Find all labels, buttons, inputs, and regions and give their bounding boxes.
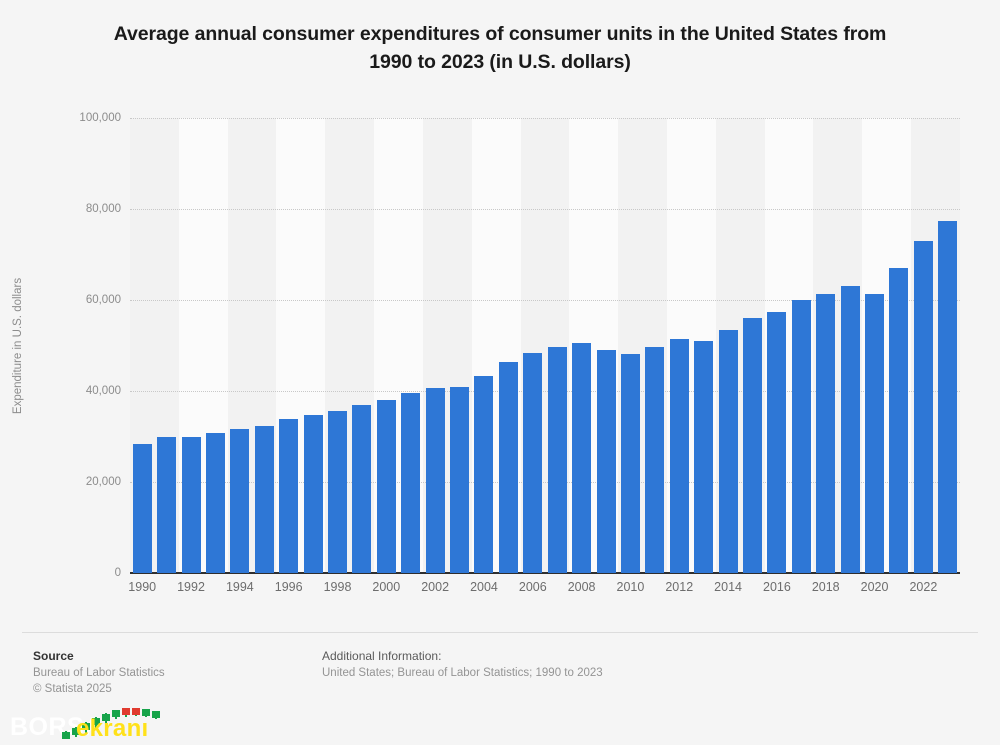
bar-2003[interactable] (450, 387, 469, 573)
bar-2008[interactable] (572, 343, 591, 573)
bar-2009[interactable] (597, 350, 616, 573)
bar-1993[interactable] (206, 433, 225, 573)
bar-2016[interactable] (767, 312, 786, 573)
bar-1994[interactable] (230, 429, 249, 573)
x-axis-tick-label: 2022 (909, 580, 937, 594)
x-axis-tick-label: 2018 (812, 580, 840, 594)
x-axis-tick-label: 2000 (372, 580, 400, 594)
source-heading: Source (33, 648, 165, 665)
y-axis-tick-label: 0 (10, 567, 130, 579)
bar-2017[interactable] (792, 300, 811, 573)
y-axis-tick-label: 60,000 (10, 294, 130, 306)
x-axis-tick-label: 2014 (714, 580, 742, 594)
bar-2011[interactable] (645, 347, 664, 573)
x-axis-tick-label: 2012 (665, 580, 693, 594)
x-axis-tick-label: 2016 (763, 580, 791, 594)
source-column: Source Bureau of Labor Statistics © Stat… (33, 648, 165, 697)
x-axis-tick-label: 1990 (128, 580, 156, 594)
bar-2022[interactable] (914, 241, 933, 573)
chart-title-line-1: Average annual consumer expenditures of … (40, 20, 960, 48)
bar-2013[interactable] (694, 341, 713, 574)
bar-1999[interactable] (352, 405, 371, 573)
x-axis-tick-label: 2002 (421, 580, 449, 594)
bar-2007[interactable] (548, 347, 567, 573)
bar-2004[interactable] (474, 376, 493, 573)
y-axis-tick-label: 100,000 (10, 112, 130, 124)
statistic-chart-page: Average annual consumer expenditures of … (0, 0, 1000, 743)
bar-2014[interactable] (719, 330, 738, 573)
watermark-secondary-text: ekranı (76, 715, 149, 743)
y-axis-ticks: 020,00040,00060,00080,000100,000 (0, 118, 130, 573)
chart-area: Expenditure in U.S. dollars 020,00040,00… (0, 100, 1000, 610)
x-axis-tick-label: 2006 (519, 580, 547, 594)
bar-1992[interactable] (182, 437, 201, 573)
x-axis-tick-label: 1998 (324, 580, 352, 594)
additional-information-text: United States; Bureau of Labor Statistic… (322, 665, 603, 681)
copyright-text: © Statista 2025 (33, 681, 165, 697)
bar-1990[interactable] (133, 444, 152, 573)
x-axis-tick-label: 2020 (861, 580, 889, 594)
chart-title: Average annual consumer expenditures of … (40, 20, 960, 76)
bar-2019[interactable] (841, 286, 860, 573)
bar-2012[interactable] (670, 339, 689, 573)
bar-2000[interactable] (377, 400, 396, 573)
bar-2010[interactable] (621, 354, 640, 573)
source-name: Bureau of Labor Statistics (33, 665, 165, 681)
y-axis-tick-label: 20,000 (10, 476, 130, 488)
bar-2015[interactable] (743, 318, 762, 573)
watermark: BORSA ekranı (8, 707, 238, 741)
x-axis-tick-label: 1994 (226, 580, 254, 594)
x-axis-tick-label: 1996 (275, 580, 303, 594)
additional-information-column: Additional Information: United States; B… (322, 648, 603, 681)
x-axis-ticks: 1990199219941996199820002002200420062008… (130, 580, 960, 604)
bar-2021[interactable] (889, 268, 908, 573)
bar-2018[interactable] (816, 294, 835, 573)
bar-1991[interactable] (157, 437, 176, 573)
bar-series (130, 118, 960, 573)
footer: Source Bureau of Labor Statistics © Stat… (0, 648, 1000, 708)
chart-title-line-2: 1990 to 2023 (in U.S. dollars) (40, 48, 960, 76)
bar-1998[interactable] (328, 411, 347, 573)
footer-divider (22, 632, 978, 633)
bar-2002[interactable] (426, 388, 445, 573)
bar-1996[interactable] (279, 419, 298, 573)
bar-2005[interactable] (499, 362, 518, 573)
bar-1997[interactable] (304, 415, 323, 573)
bar-2006[interactable] (523, 353, 542, 573)
x-axis-tick-label: 2008 (568, 580, 596, 594)
bar-1995[interactable] (255, 426, 274, 573)
x-axis-tick-label: 1992 (177, 580, 205, 594)
bar-2001[interactable] (401, 393, 420, 573)
bar-2020[interactable] (865, 294, 884, 573)
additional-information-heading: Additional Information: (322, 648, 603, 665)
y-axis-tick-label: 80,000 (10, 203, 130, 215)
x-axis-tick-label: 2010 (617, 580, 645, 594)
y-axis-tick-label: 40,000 (10, 385, 130, 397)
x-axis-tick-label: 2004 (470, 580, 498, 594)
bar-2023[interactable] (938, 221, 957, 573)
